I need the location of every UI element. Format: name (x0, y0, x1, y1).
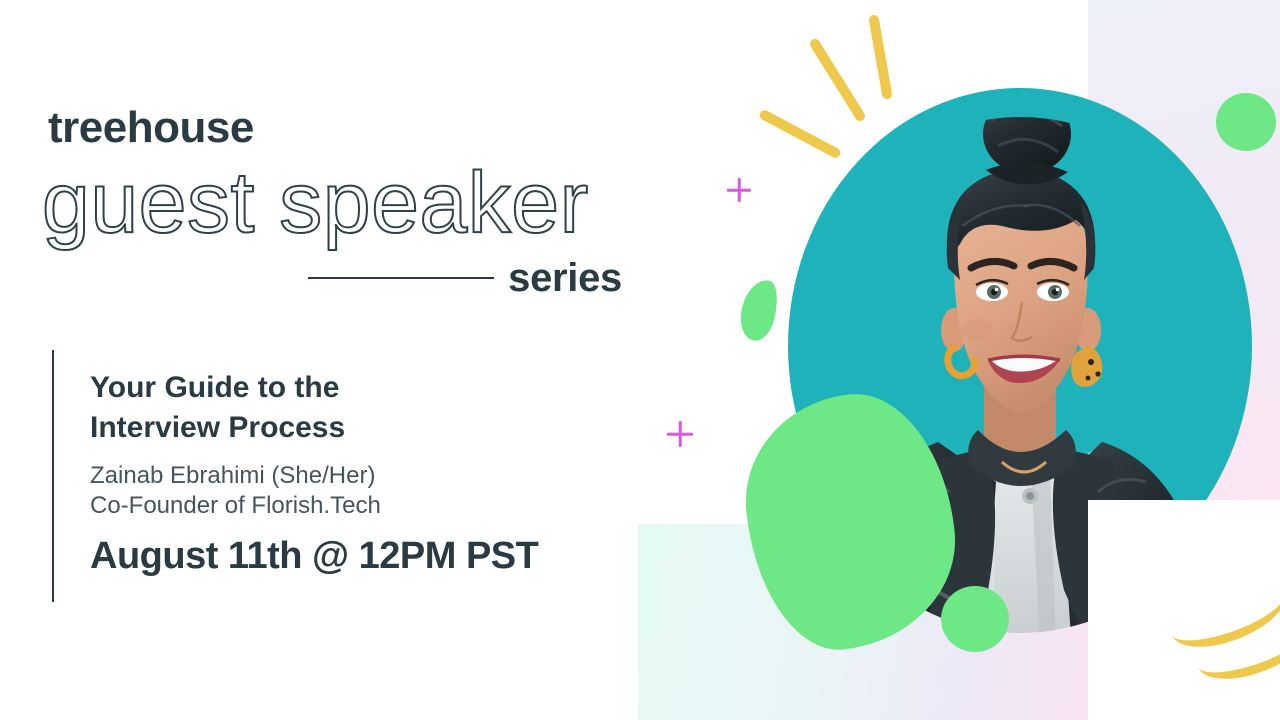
slide-canvas: treehouse guest speaker series Your Guid… (0, 0, 1280, 720)
green-circle-bottom-icon (941, 586, 1009, 652)
event-date-time: August 11th @ 12PM PST (90, 536, 538, 578)
green-circle-top-right-icon (1216, 93, 1276, 151)
magenta-plus-icon-2 (667, 421, 693, 447)
brand-wordmark: treehouse (48, 106, 254, 150)
series-label: series (508, 258, 622, 298)
speaker-name: Zainab Ebrahimi (She/Her) (90, 461, 375, 492)
speaker-role: Co-Founder of Florish.Tech (90, 491, 381, 522)
vertical-divider (52, 350, 54, 602)
magenta-plus-icon-1 (727, 178, 751, 202)
session-title-line-1: Your Guide to the (90, 368, 610, 408)
session-title: Your Guide to the Interview Process (90, 368, 610, 447)
hero-headline-outline: guest speaker (42, 160, 589, 246)
green-blob-small-icon (735, 276, 783, 344)
series-row: series (308, 258, 622, 298)
session-title-line-2: Interview Process (90, 408, 610, 448)
series-rule-divider (308, 277, 494, 279)
